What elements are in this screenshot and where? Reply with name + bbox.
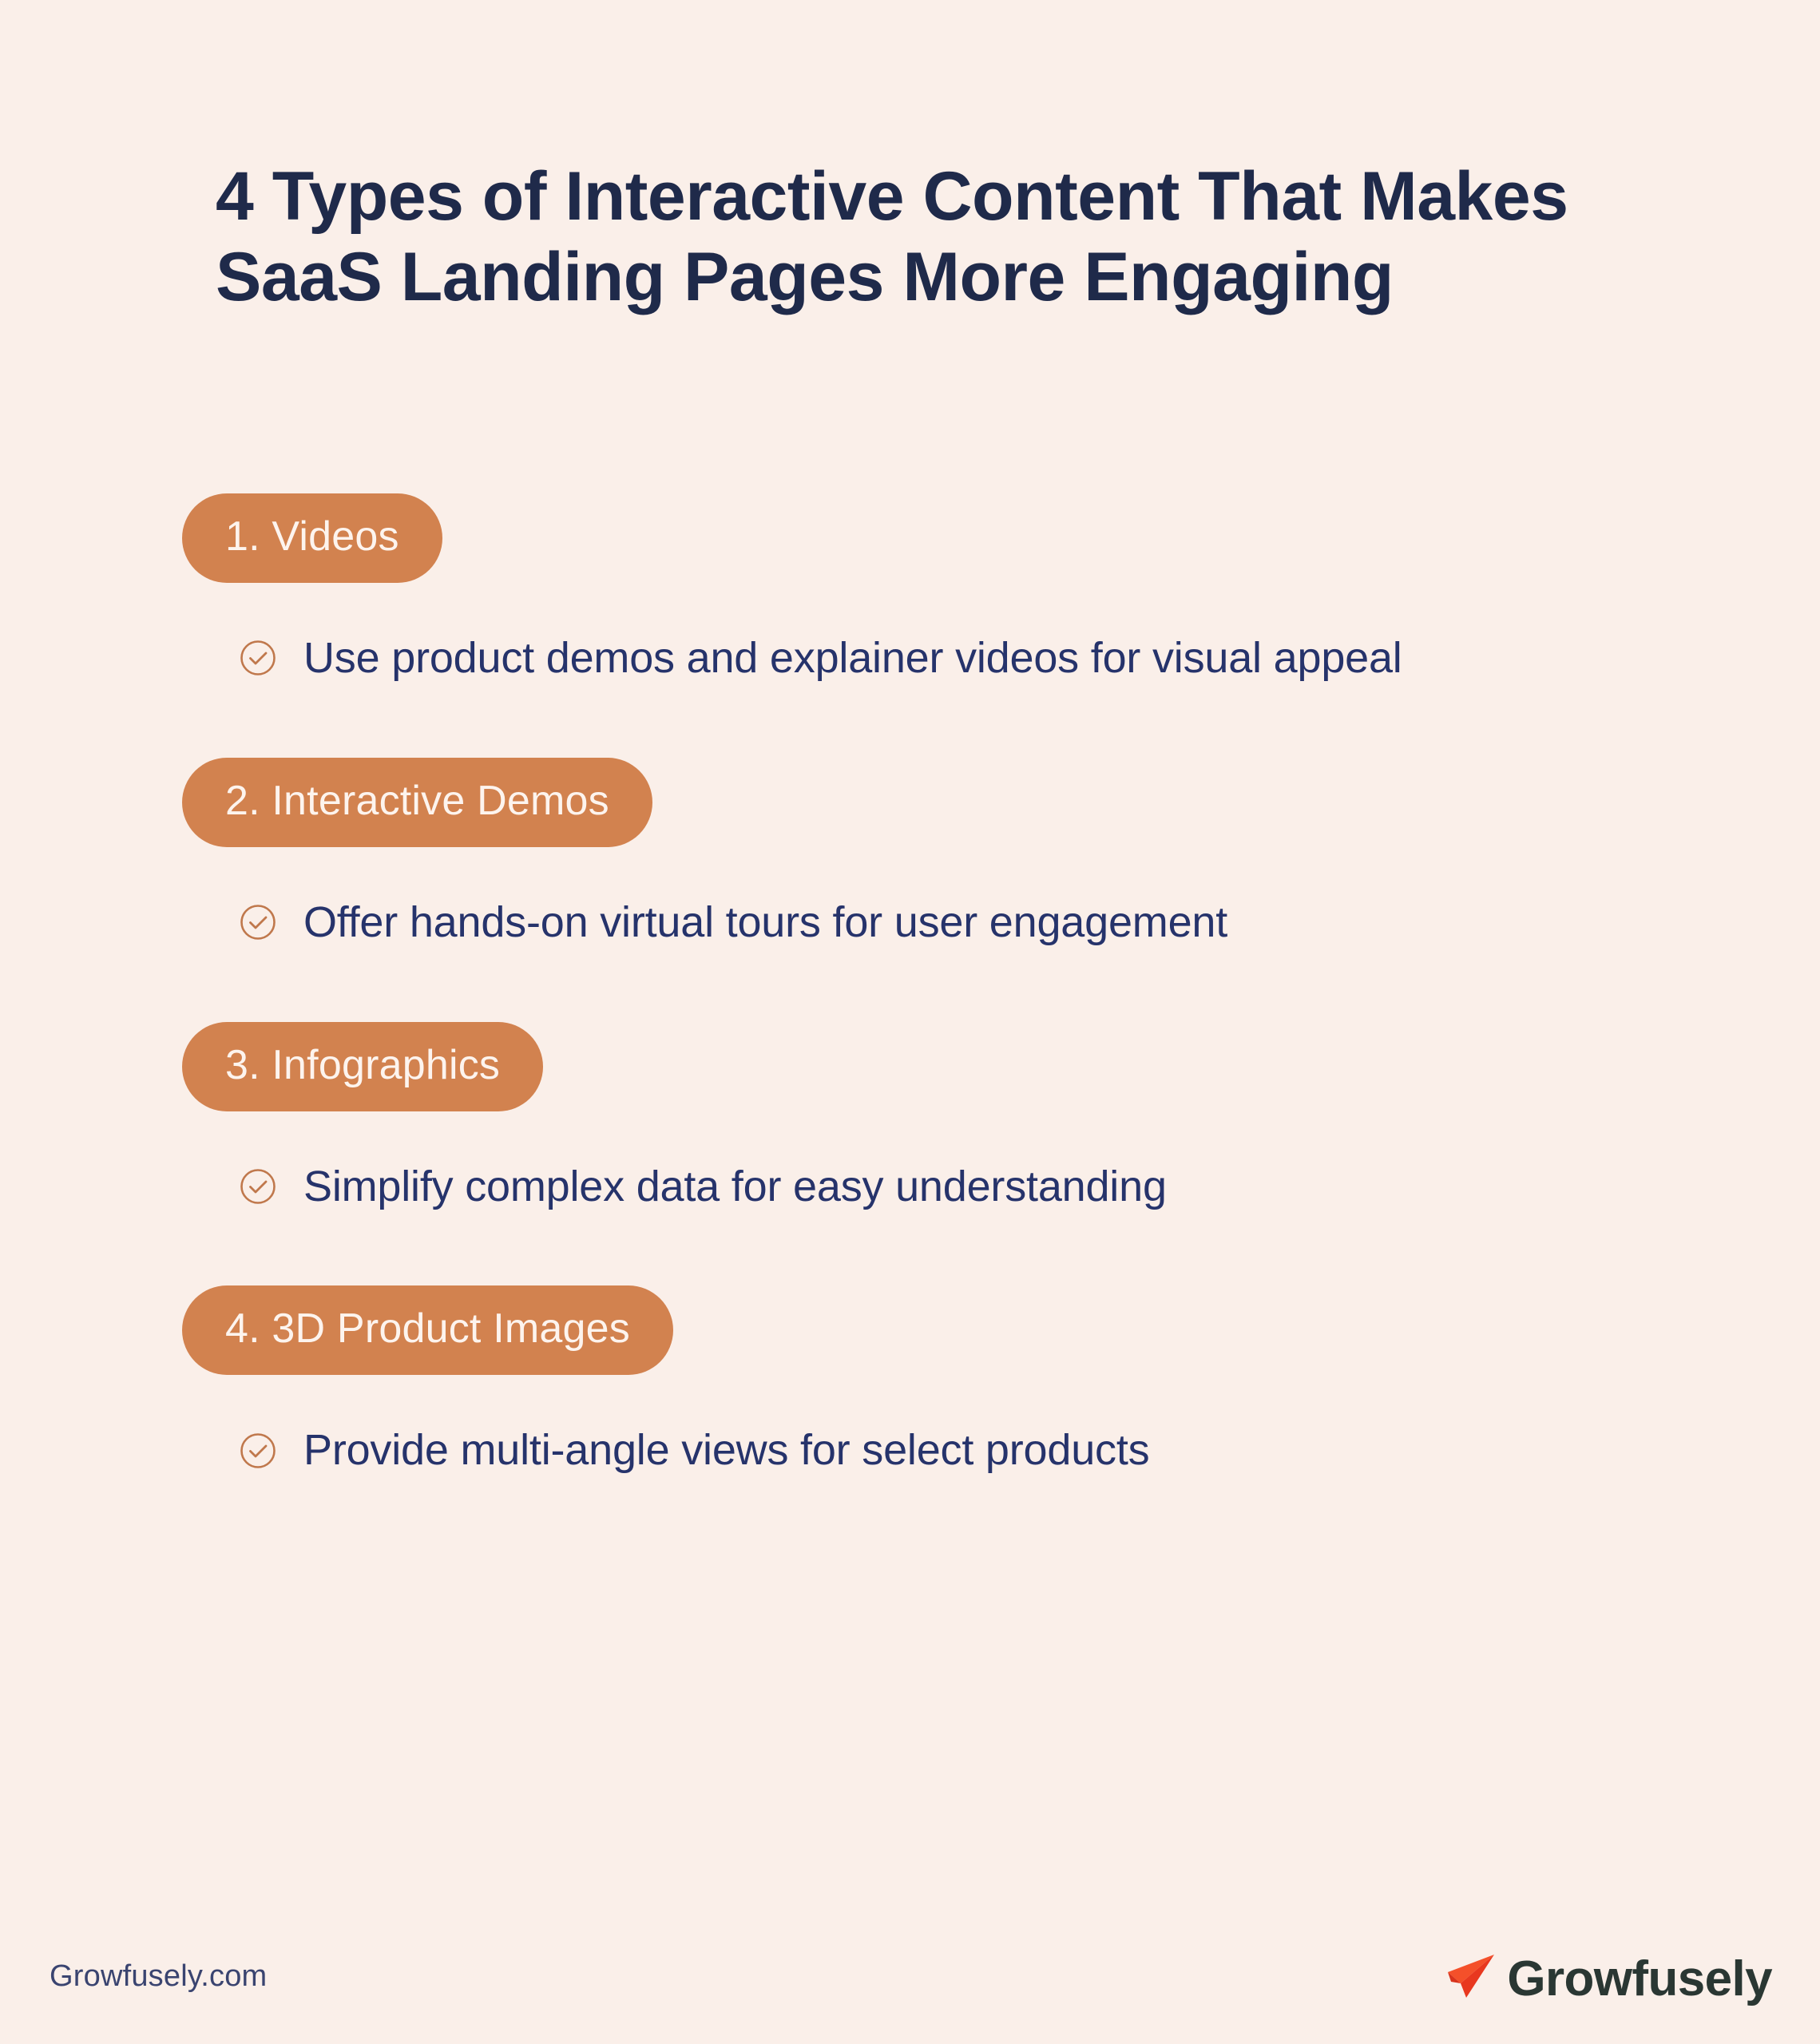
- title-heading: 4 Types of Interactive Content That Make…: [216, 156, 1621, 317]
- section-pill-4: 4. 3D Product Images: [182, 1285, 673, 1375]
- section-bullet-row-2: Offer hands-on virtual tours for user en…: [240, 897, 1699, 949]
- circle-check-icon: [240, 904, 276, 941]
- section-pill-3: 3. Infographics: [182, 1022, 543, 1111]
- section-item: 4. 3D Product Images Provide multi-angle…: [182, 1285, 1699, 1476]
- brand-name-text: Growfusely: [1507, 1955, 1772, 2004]
- section-bullet-row-4: Provide multi-angle views for select pro…: [240, 1424, 1699, 1476]
- section-bullet-text-1: Use product demos and explainer videos f…: [303, 632, 1402, 684]
- section-bullet-text-2: Offer hands-on virtual tours for user en…: [303, 897, 1227, 949]
- section-pill-2: 2. Interactive Demos: [182, 758, 652, 847]
- page-title: 4 Types of Interactive Content That Make…: [216, 156, 1621, 317]
- circle-check-icon: [240, 1168, 276, 1205]
- infographic-page: 4 Types of Interactive Content That Make…: [0, 0, 1820, 2044]
- section-item: 3. Infographics Simplify complex data fo…: [182, 1022, 1699, 1213]
- section-bullet-text-3: Simplify complex data for easy understan…: [303, 1161, 1167, 1213]
- brand-logo: Growfusely: [1440, 1948, 1772, 2010]
- title-line-1: 4 Types of Interactive Content That Make…: [216, 156, 1621, 237]
- section-bullet-row-1: Use product demos and explainer videos f…: [240, 632, 1699, 684]
- circle-check-icon: [240, 1432, 276, 1469]
- paper-plane-icon: [1440, 1948, 1502, 2010]
- circle-check-icon: [240, 640, 276, 676]
- section-bullet-row-3: Simplify complex data for easy understan…: [240, 1161, 1699, 1213]
- footer-website-url: Growfusely.com: [50, 1959, 267, 1994]
- section-pill-1: 1. Videos: [182, 493, 442, 583]
- section-item: 2. Interactive Demos Offer hands-on virt…: [182, 758, 1699, 949]
- title-line-2: SaaS Landing Pages More Engaging: [216, 237, 1621, 318]
- section-bullet-text-4: Provide multi-angle views for select pro…: [303, 1424, 1149, 1476]
- footer: Growfusely.com Growfusely: [0, 1948, 1820, 2044]
- sections-list: 1. Videos Use product demos and explaine…: [182, 493, 1699, 1476]
- section-item: 1. Videos Use product demos and explaine…: [182, 493, 1699, 684]
